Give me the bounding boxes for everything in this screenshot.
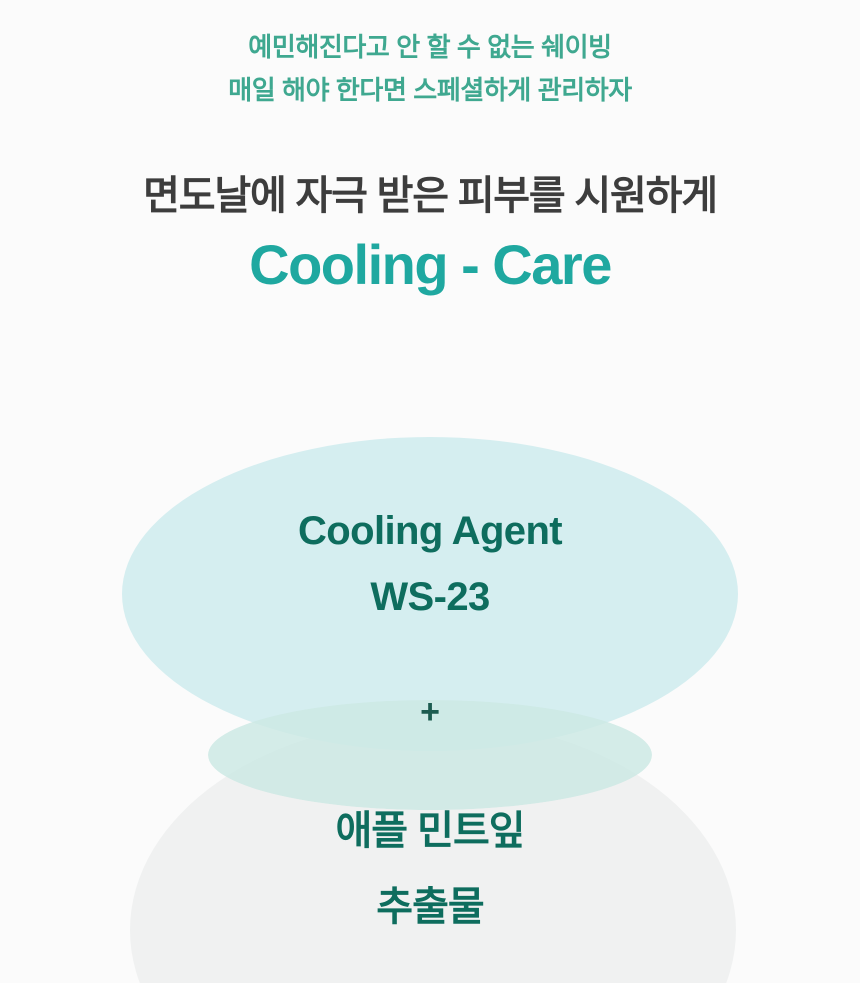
ingredient-top-line-2: WS-23 xyxy=(0,564,860,630)
promo-page: 예민해진다고 안 할 수 없는 쉐이빙 매일 해야 한다면 스페셜하게 관리하자… xyxy=(0,0,860,983)
ingredient-bottom-line-2: 추출물 xyxy=(0,869,860,945)
ingredient-bottom-label: 애플 민트잎 추출물 xyxy=(0,793,860,945)
plus-icon: + xyxy=(0,692,860,732)
ingredient-bottom-line-1: 애플 민트잎 xyxy=(0,793,860,869)
ingredient-top-label: Cooling Agent WS-23 xyxy=(0,498,860,630)
ingredient-top-line-1: Cooling Agent xyxy=(0,498,860,564)
ingredient-diagram: Cooling Agent WS-23 + 애플 민트잎 추출물 xyxy=(0,0,860,983)
